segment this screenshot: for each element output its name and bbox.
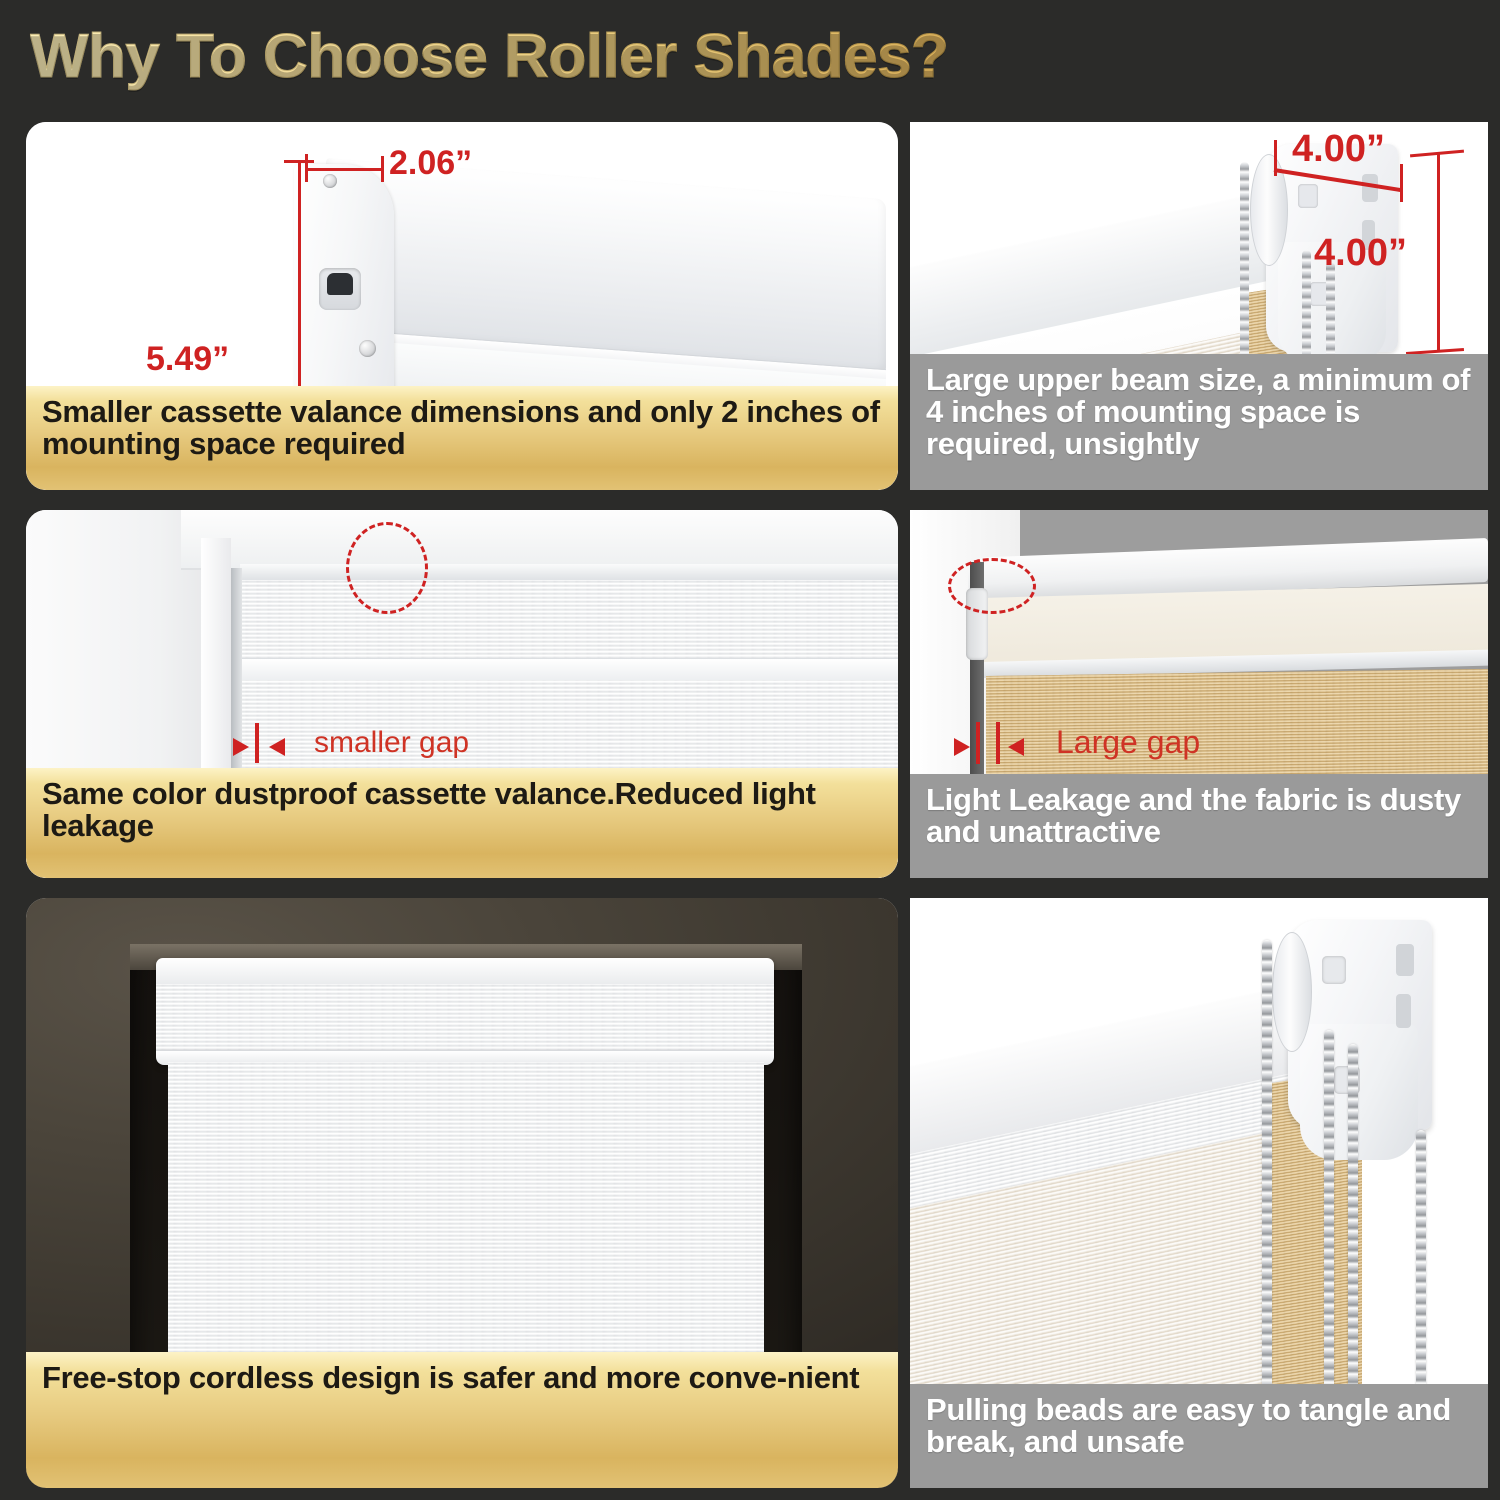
screw-icon — [323, 174, 337, 188]
dim-cap — [284, 160, 314, 163]
dimension-label-height: 5.49” — [146, 340, 229, 379]
bracket-slot — [319, 268, 361, 310]
panel-pro-cordless-design: Free-stop cordless design is safer and m… — [26, 898, 898, 1488]
valance-head — [240, 564, 898, 581]
gap-callout-label: smaller gap — [314, 726, 469, 760]
screw-icon — [359, 340, 376, 357]
panel-con-beam-size: 4.00” 4.00” Large upper beam size, a min… — [910, 122, 1488, 490]
comparison-grid: 2.06” 5.49” Smaller cassette valance dim… — [0, 100, 1500, 1500]
shade-fabric-upper — [240, 580, 898, 664]
gap-marker — [996, 722, 1000, 764]
gap-arrow-left-icon — [269, 738, 285, 756]
caption-con-pulling-beads: Pulling beads are easy to tangle and bre… — [910, 1384, 1488, 1488]
highlight-circle — [346, 522, 428, 614]
shade-rail — [240, 658, 898, 682]
gap-callout-label: Large gap — [1056, 724, 1200, 761]
panel-con-pulling-beads: Pulling beads are easy to tangle and bre… — [910, 898, 1488, 1488]
caption-pro-cordless-design: Free-stop cordless design is safer and m… — [26, 1352, 898, 1488]
caption-pro-dustproof-valance: Same color dustproof cassette valance.Re… — [26, 768, 898, 878]
dimension-label-width: 4.00” — [1292, 128, 1385, 171]
page-title: Why To Choose Roller Shades? — [30, 18, 1230, 96]
gap-marker — [976, 722, 980, 764]
gap-arrow-right-icon — [233, 738, 249, 756]
panel-con-light-leakage: Large gap Light Leakage and the fabric i… — [910, 510, 1488, 878]
window-frame-top — [181, 510, 898, 570]
dimension-line-width — [305, 168, 383, 171]
bead-chain — [1262, 940, 1272, 1460]
caption-con-light-leakage: Light Leakage and the fabric is dusty an… — [910, 774, 1488, 878]
gap-marker — [255, 723, 259, 763]
infographic-page: Why To Choose Roller Shades? — [0, 0, 1500, 1500]
gap-arrow-left-icon — [1008, 738, 1024, 756]
cassette-valance — [156, 984, 774, 1056]
panel-pro-dustproof-valance: smaller gap Same color dustproof cassett… — [26, 510, 898, 878]
dimension-label-height: 4.00” — [1314, 232, 1407, 275]
highlight-circle — [948, 558, 1036, 614]
caption-pro-cassette-size: Smaller cassette valance dimensions and … — [26, 386, 898, 490]
gap-arrow-right-icon — [954, 738, 970, 756]
panel-pro-cassette-size: 2.06” 5.49” Smaller cassette valance dim… — [26, 122, 898, 490]
caption-con-beam-size: Large upper beam size, a minimum of 4 in… — [910, 354, 1488, 490]
dimension-line-height — [1437, 152, 1440, 352]
roller-end-ring — [1272, 932, 1312, 1052]
shade-fabric — [168, 1062, 764, 1390]
dimension-label-width: 2.06” — [389, 144, 472, 183]
